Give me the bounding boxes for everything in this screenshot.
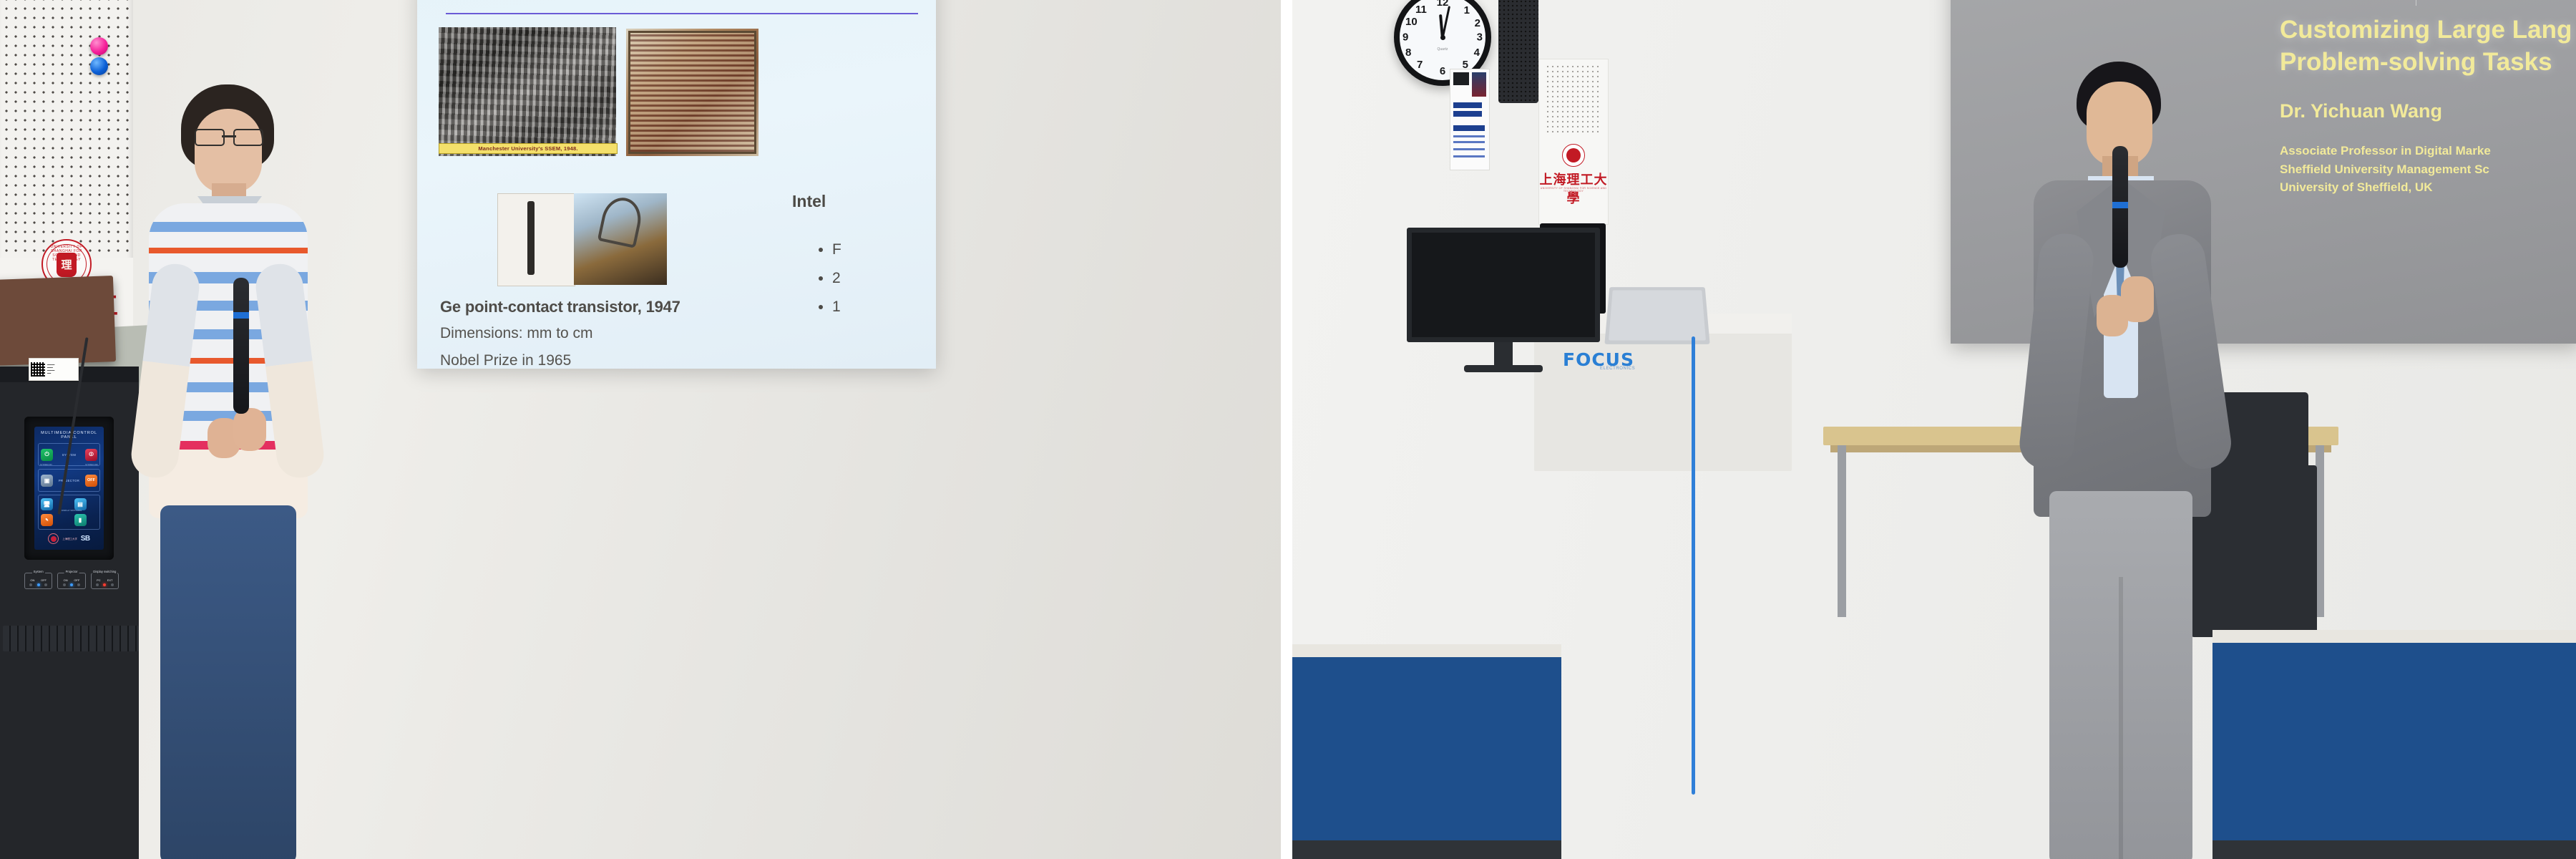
clock-numeral-4: 4 (1474, 47, 1480, 59)
projector-on-button[interactable]: ▣ (41, 475, 53, 487)
system-off-caption: SYSTEM OFF (85, 463, 98, 466)
hw-display-led-3 (111, 583, 114, 586)
slide-caption-dimensions: Dimensions: mm to cm (440, 325, 593, 342)
hw-group-display-switching: Display switching PCEXT (91, 573, 119, 589)
right-speaker-microphone (2112, 146, 2128, 268)
clock-numeral-2: 2 (1475, 17, 1480, 29)
hw-projector-led-1 (63, 583, 66, 586)
bench-frame-left (1292, 840, 1561, 859)
usst-seal-shield: 理 (57, 253, 77, 277)
poster-line-1 (1453, 135, 1485, 137)
display-tv-button[interactable]: ✎ (41, 514, 53, 526)
left-laptop (0, 276, 116, 366)
system-on-caption: SYSTEM ON (40, 463, 52, 466)
wall-poster (1450, 69, 1490, 170)
slide-caption-ge: Ge point-contact transistor, 1947 (440, 298, 680, 316)
hw-projector-led-3 (77, 583, 80, 586)
hw-system-led-active (37, 583, 40, 586)
display-group-label: DISPLAY SWITCHING (62, 509, 82, 512)
control-panel-footer: 上海理工大学 SB (38, 533, 100, 544)
hw-system-led-on (29, 583, 32, 586)
display-pc-button[interactable]: 🖥 (41, 498, 53, 510)
chip-photo (626, 29, 758, 156)
front-bench-right (2212, 630, 2576, 859)
qr-code-icon (31, 362, 45, 377)
right-speaker-hand-right (2121, 276, 2154, 322)
hw-system-on[interactable]: ON (30, 578, 34, 582)
slide-title-rule (446, 13, 918, 14)
monitor-screen (1407, 228, 1600, 342)
hw-display-led-1 (96, 583, 99, 586)
intel-bullet-1: F (832, 236, 841, 264)
poster-line-3 (1453, 148, 1485, 150)
poster-band-2 (1453, 111, 1482, 117)
right-slide-title: Customizing Large Lang Problem-solving T… (2280, 14, 2572, 79)
pink-magnet (90, 37, 108, 55)
slide-intel-heading: Intel (792, 192, 826, 211)
qr-label-text: ▬▬▬▬▬▬▬▬▬▬▬▬▬ (47, 364, 77, 375)
left-photo-panel: UNIVERSITY OF SHANGHAI FOR SCIENCE AND T… (0, 0, 1281, 859)
transistor-photo (497, 193, 575, 286)
hw-projector-led-active (70, 583, 73, 586)
hw-display-label: Display switching (92, 570, 117, 573)
laptop-lid (1609, 291, 1706, 341)
table-leg-left (1838, 445, 1846, 617)
poster-line-2 (1453, 141, 1485, 143)
left-speaker-glasses-icon (195, 129, 263, 143)
clock-numeral-9: 9 (1402, 31, 1408, 44)
control-group-projector: ▣ PROJECTOR OFF (38, 469, 100, 492)
right-photo-panel: 12 1 2 3 4 5 6 7 8 9 10 11 Quartz (1292, 0, 2576, 859)
equipment-qr-label: ▬▬▬▬▬▬▬▬▬▬▬▬▬ (29, 358, 79, 381)
monitor-base (1464, 365, 1543, 372)
right-speaker-trousers (2049, 491, 2192, 859)
blue-magnet (90, 57, 108, 75)
poster-photo-1 (1453, 72, 1469, 85)
bench-top-right (2212, 630, 2576, 643)
hardware-button-row: System ONOFF Projector ONOFF Display swi… (24, 573, 119, 589)
poster-band-3 (1453, 125, 1485, 131)
ssem-photo (439, 27, 616, 156)
clock-numeral-11: 11 (1415, 4, 1427, 16)
front-bench-left (1292, 644, 1561, 859)
clock-numeral-10: 10 (1405, 16, 1418, 28)
display-share-hdmi-button[interactable]: ▮ (74, 514, 87, 526)
slide-caption-nobel: Nobel Prize in 1965 (440, 352, 571, 369)
hw-group-system: System ONOFF (24, 573, 52, 589)
clock-numeral-6: 6 (1440, 65, 1445, 77)
affiliation-line-1: Associate Professor in Digital Marke (2280, 142, 2491, 160)
affiliation-line-2: Sheffield University Management Sc (2280, 160, 2491, 179)
right-slide-presenter: Dr. Yichuan Wang (2280, 100, 2442, 122)
hw-group-projector: Projector ONOFF (57, 573, 85, 589)
hw-system-off[interactable]: OFF (41, 578, 47, 582)
slide-intel-bullets: F 2 1 (804, 236, 841, 321)
right-usst-seal-icon (1562, 144, 1585, 167)
hw-projector-off[interactable]: OFF (74, 578, 79, 582)
photo-composite: UNIVERSITY OF SHANGHAI FOR SCIENCE AND T… (0, 0, 2576, 859)
hw-display-pc[interactable]: PC (97, 578, 101, 582)
right-usst-branding-panel: 上海理工大學 UNIVERSITY OF SHANGHAI FOR SCIENC… (1538, 59, 1609, 225)
lectern-monitor (1407, 228, 1600, 342)
control-panel-seal-icon (48, 533, 59, 544)
panel-divider (1281, 0, 1292, 859)
ssem-photo-caption: Manchester University's SSEM, 1948. (439, 143, 618, 154)
monitor-stand (1494, 342, 1513, 367)
hw-system-led-off (44, 583, 47, 586)
right-slide-affiliation: Associate Professor in Digital Marke She… (2280, 142, 2491, 197)
clock-numeral-8: 8 (1405, 47, 1411, 59)
hw-system-label: System (32, 570, 45, 573)
bench-top-left (1292, 644, 1561, 657)
system-off-button[interactable]: ⏼ (85, 449, 97, 461)
poster-photo-2 (1472, 72, 1486, 97)
hw-display-ext[interactable]: EXT (107, 578, 113, 582)
left-speaker-hand-right (233, 408, 266, 451)
right-slide-title-line1: Customizing Large Lang (2280, 16, 2572, 44)
intel-bullet-3: 1 (832, 293, 841, 321)
bench-frame-right (2212, 840, 2576, 859)
projector-off-button[interactable]: OFF (85, 475, 97, 487)
left-speaker-microphone (233, 278, 249, 414)
slide-title: Semiconductors: (446, 0, 721, 6)
poster-line-4 (1453, 155, 1485, 157)
right-microphone-blue-band (2112, 202, 2128, 208)
lectern-keyboard[interactable] (3, 626, 139, 651)
clock-center-pin (1440, 35, 1445, 40)
right-usst-name-en: UNIVERSITY OF SHANGHAI FOR SCIENCE AND T… (1539, 187, 1608, 193)
affiliation-line-3: University of Sheffield, UK (2280, 178, 2491, 197)
ceiling-speaker (1498, 0, 1538, 103)
control-panel-seal-text: 上海理工大学 (62, 537, 77, 540)
lectern-laptop (1604, 287, 1709, 344)
intel-bullet-2: 2 (832, 264, 841, 293)
left-speaker-jeans (160, 505, 296, 859)
clock-numeral-12: 12 (1437, 0, 1449, 9)
clock-minute-hand (1442, 6, 1450, 39)
panel-perforation-pattern (1546, 65, 1601, 134)
control-panel-vendor-brand: SB (81, 535, 90, 543)
slide-logo-divider (2416, 0, 2416, 6)
clock-brand-text: Quartz (1437, 47, 1448, 52)
hw-display-led-active (103, 583, 106, 586)
focus-brand-subtext: ELECTRONICS (1600, 367, 1635, 371)
right-speaker-person (2029, 62, 2215, 859)
right-slide-title-line2: Problem-solving Tasks (2280, 48, 2552, 76)
clock-numeral-3: 3 (1477, 31, 1483, 44)
hw-projector-label: Projector (64, 570, 79, 573)
left-speaker-face (195, 109, 262, 193)
poster-band-1 (1453, 102, 1482, 108)
hw-projector-on[interactable]: ON (64, 578, 68, 582)
projector-group-label: PROJECTOR (53, 479, 85, 482)
control-group-display-switching: 🖥 ▤ ✎ ▮ DISPLAY SWITCHING (38, 495, 100, 530)
clock-numeral-1: 1 (1464, 4, 1470, 16)
left-projection-screen: Semiconductors: Manchester University's … (417, 0, 936, 369)
left-speaker-person (142, 84, 313, 859)
tweezers-photo (574, 193, 667, 285)
microphone-blue-band (233, 312, 249, 319)
blue-network-cable (1692, 336, 1695, 795)
clock-numeral-7: 7 (1417, 59, 1423, 71)
system-on-button[interactable]: ⏻ (41, 449, 53, 461)
